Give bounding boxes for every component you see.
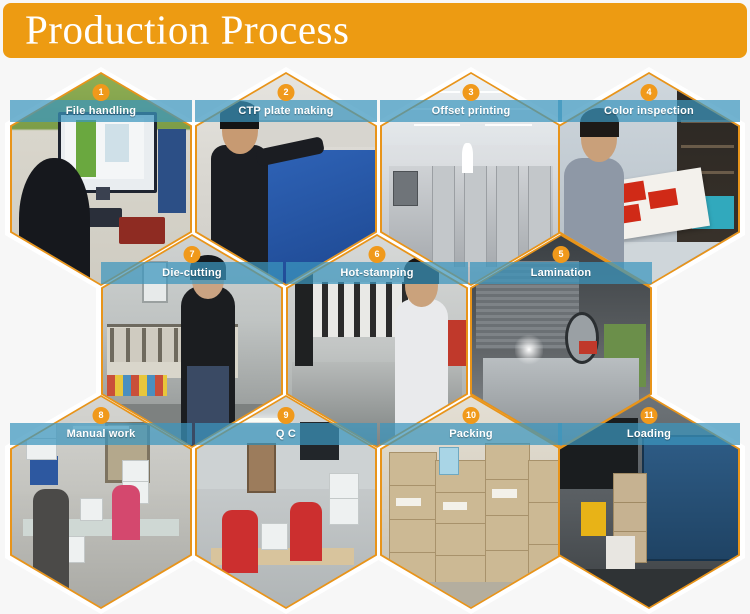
- process-step-9[interactable]: Q C 9: [195, 395, 377, 609]
- step-number-badge: 1: [93, 84, 110, 101]
- step-label: Loading: [627, 429, 671, 440]
- step-label-band: Die-cutting: [101, 262, 283, 284]
- step-label-band: Q C: [195, 423, 377, 445]
- step-label-band: Packing: [380, 423, 562, 445]
- process-step-11[interactable]: Loading 11: [558, 395, 740, 609]
- step-number-badge: 5: [553, 246, 570, 263]
- step-label-band: Loading: [558, 423, 740, 445]
- step-label: CTP plate making: [238, 106, 333, 117]
- step-number-badge: 2: [278, 84, 295, 101]
- step-label-band: Color inspection: [558, 100, 740, 122]
- step-label: Packing: [449, 429, 493, 440]
- step-number-badge: 10: [463, 407, 480, 424]
- process-step-8[interactable]: Manual work 8: [10, 395, 192, 609]
- step-label: Lamination: [531, 268, 592, 279]
- step-label: Offset printing: [432, 106, 511, 117]
- step-label-band: CTP plate making: [195, 100, 377, 122]
- step-number-badge: 7: [184, 246, 201, 263]
- header-banner: Production Process: [3, 3, 747, 58]
- process-step-10[interactable]: Packing 10: [380, 395, 562, 609]
- step-label-band: File handling: [10, 100, 192, 122]
- step-number-badge: 8: [93, 407, 110, 424]
- step-label: Hot-stamping: [340, 268, 413, 279]
- step-label: Q C: [276, 429, 296, 440]
- process-hexagon-grid: File handling 1 CTP plate making 2: [0, 58, 750, 611]
- step-number-badge: 3: [463, 84, 480, 101]
- step-label: Manual work: [67, 429, 136, 440]
- step-label-band: Lamination: [470, 262, 652, 284]
- step-label-band: Offset printing: [380, 100, 562, 122]
- page-title: Production Process: [25, 9, 349, 50]
- step-label: Color inspection: [604, 106, 694, 117]
- step-label-band: Hot-stamping: [286, 262, 468, 284]
- step-number-badge: 11: [641, 407, 658, 424]
- step-number-badge: 9: [278, 407, 295, 424]
- step-label-band: Manual work: [10, 423, 192, 445]
- step-number-badge: 6: [369, 246, 386, 263]
- step-number-badge: 4: [641, 84, 658, 101]
- step-label: File handling: [66, 106, 136, 117]
- step-label: Die-cutting: [162, 268, 222, 279]
